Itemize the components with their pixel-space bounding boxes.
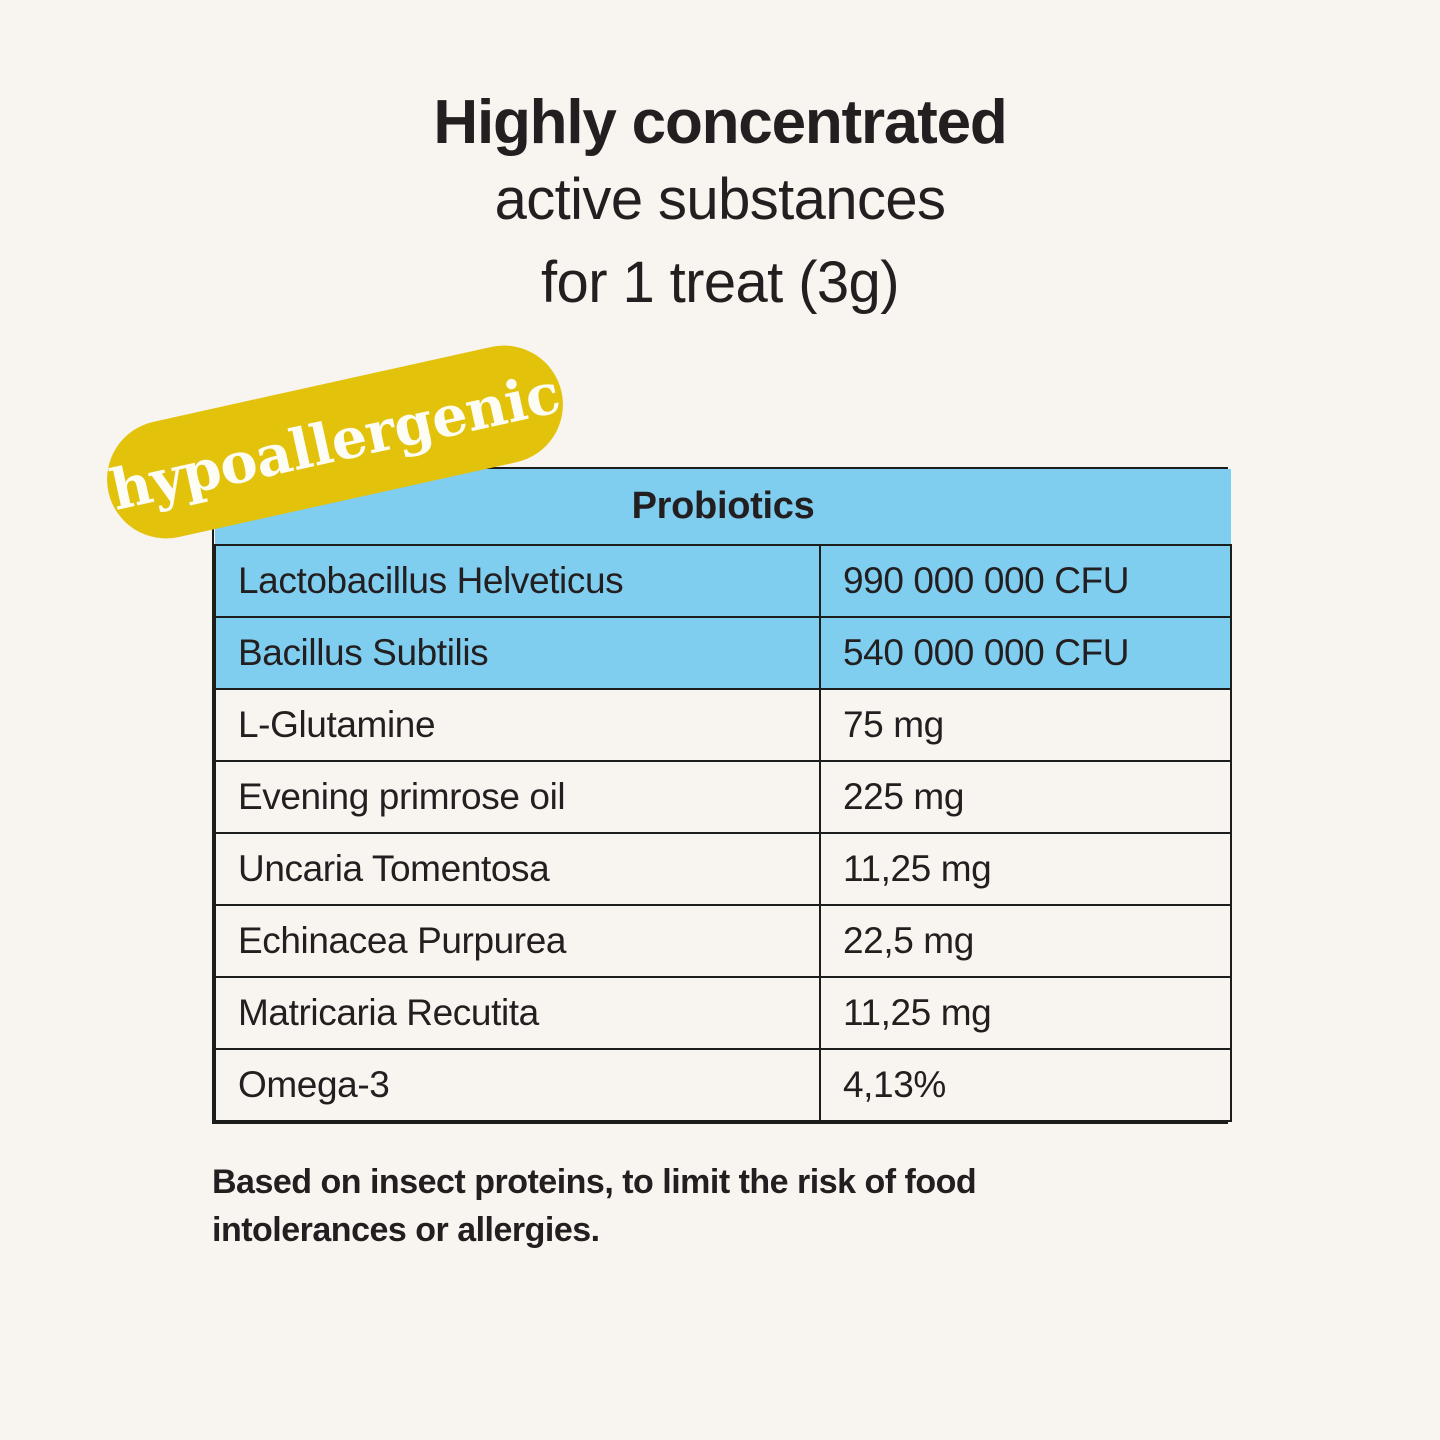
table-row: Omega-34,13% (215, 1049, 1231, 1121)
substance-name-cell: Echinacea Purpurea (215, 905, 820, 977)
table-row: Lactobacillus Helveticus990 000 000 CFU (215, 545, 1231, 617)
title-line-primary: Highly concentrated (0, 86, 1440, 159)
table-row: Bacillus Subtilis540 000 000 CFU (215, 617, 1231, 689)
substance-name-cell: Matricaria Recutita (215, 977, 820, 1049)
substance-name-cell: Bacillus Subtilis (215, 617, 820, 689)
title-line-tertiary: for 1 treat (3g) (0, 242, 1440, 324)
substance-name-cell: Lactobacillus Helveticus (215, 545, 820, 617)
substance-name-cell: Omega-3 (215, 1049, 820, 1121)
substance-name-cell: Evening primrose oil (215, 761, 820, 833)
substance-amount-cell: 11,25 mg (820, 833, 1231, 905)
substance-amount-cell: 990 000 000 CFU (820, 545, 1231, 617)
table-row: Echinacea Purpurea22,5 mg (215, 905, 1231, 977)
active-substances-table: Probiotics Lactobacillus Helveticus990 0… (212, 467, 1228, 1124)
substance-name-cell: Uncaria Tomentosa (215, 833, 820, 905)
substance-amount-cell: 75 mg (820, 689, 1231, 761)
title-line-secondary: active substances (0, 159, 1440, 241)
table-row: Evening primrose oil225 mg (215, 761, 1231, 833)
substance-name-cell: L-Glutamine (215, 689, 820, 761)
table-row: Uncaria Tomentosa11,25 mg (215, 833, 1231, 905)
substance-amount-cell: 4,13% (820, 1049, 1231, 1121)
substance-amount-cell: 540 000 000 CFU (820, 617, 1231, 689)
substance-amount-cell: 22,5 mg (820, 905, 1231, 977)
page-title: Highly concentrated active substances fo… (0, 86, 1440, 324)
table-row: L-Glutamine75 mg (215, 689, 1231, 761)
substance-amount-cell: 225 mg (820, 761, 1231, 833)
footnote: Based on insect proteins, to limit the r… (212, 1158, 1112, 1255)
substance-amount-cell: 11,25 mg (820, 977, 1231, 1049)
table-row: Matricaria Recutita11,25 mg (215, 977, 1231, 1049)
